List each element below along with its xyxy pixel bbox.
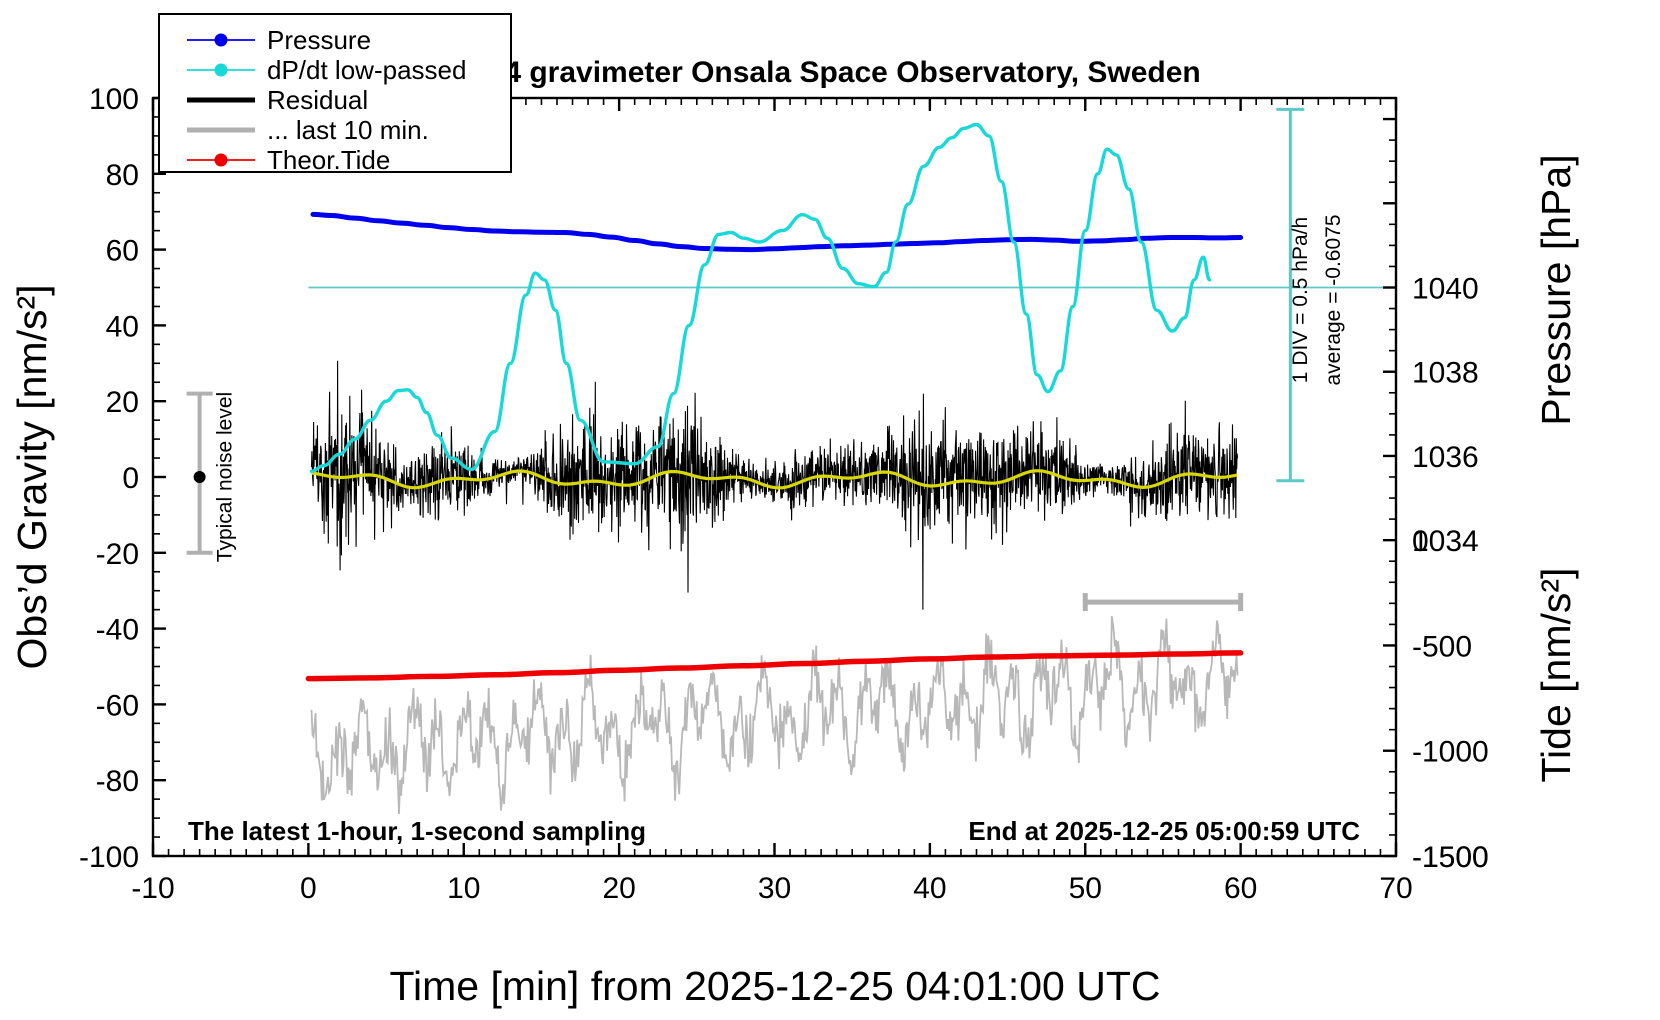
y-tick-label: -20 <box>96 538 139 571</box>
noise-level-text: Typical noise level <box>214 392 237 562</box>
legend-label: ... last 10 min. <box>267 115 429 145</box>
chart-page: Typical noise level1 DIV = 0.5 hPa/haver… <box>0 0 1660 1020</box>
legend-label: dP/dt low-passed <box>267 55 466 85</box>
y-tick-label: 40 <box>106 310 139 343</box>
y-axis-label: Obs’d Gravity [nm/s²] <box>9 284 55 669</box>
x-tick-label: 50 <box>1069 872 1102 905</box>
legend-label: Residual <box>267 85 368 115</box>
x-tick-label: 40 <box>913 872 946 905</box>
y-tick-label: -60 <box>96 689 139 722</box>
x-tick-label: 0 <box>300 872 317 905</box>
legend-label: Theor.Tide <box>267 145 390 175</box>
x-tick-label: 20 <box>602 872 635 905</box>
x-tick-label: -10 <box>131 872 174 905</box>
x-tick-label: 70 <box>1379 872 1412 905</box>
tide-axis-label: Tide [nm/s²] <box>1533 568 1579 783</box>
gravimeter-plot: Typical noise level1 DIV = 0.5 hPa/haver… <box>0 0 1660 1020</box>
y-tick-label: 100 <box>89 83 139 116</box>
tide-tick-label: 0 <box>1412 525 1429 558</box>
pressure-tick-label: 1040 <box>1412 273 1479 306</box>
footer-right-text: End at 2025-12-25 05:00:59 UTC <box>968 816 1360 846</box>
x-axis-label: Time [min] from 2025-12-25 04:01:00 UTC <box>390 963 1161 1009</box>
legend-marker-dot <box>215 64 228 77</box>
x-tick-label: 10 <box>447 872 480 905</box>
legend-group[interactable]: PressuredP/dt low-passedResidual... last… <box>159 14 511 175</box>
x-tick-label: 30 <box>758 872 791 905</box>
tide-tick-label: -500 <box>1412 630 1472 663</box>
x-tick-label: 60 <box>1224 872 1257 905</box>
legend-label: Pressure <box>267 25 371 55</box>
y-tick-label: -100 <box>79 841 139 874</box>
tide-tick-label: -1500 <box>1412 841 1489 874</box>
annotation-average: average = -0.6075 <box>1322 214 1345 385</box>
y-tick-label: 80 <box>106 159 139 192</box>
tide-tick-label: -1000 <box>1412 736 1489 769</box>
legend-marker-dot <box>215 154 228 167</box>
y-tick-label: 0 <box>122 462 139 495</box>
pressure-tick-label: 1036 <box>1412 441 1479 474</box>
y-tick-label: -80 <box>96 765 139 798</box>
footer-left-text: The latest 1-hour, 1-second sampling <box>188 816 646 846</box>
legend-marker-dot <box>215 34 228 47</box>
pressure-axis-label: Pressure [hPa] <box>1533 154 1579 425</box>
y-tick-label: 20 <box>106 386 139 419</box>
annotation-div-scale: 1 DIV = 0.5 hPa/h <box>1289 217 1312 383</box>
pressure-tick-label: 1038 <box>1412 357 1479 390</box>
y-tick-label: 60 <box>106 235 139 268</box>
y-tick-label: -40 <box>96 614 139 647</box>
